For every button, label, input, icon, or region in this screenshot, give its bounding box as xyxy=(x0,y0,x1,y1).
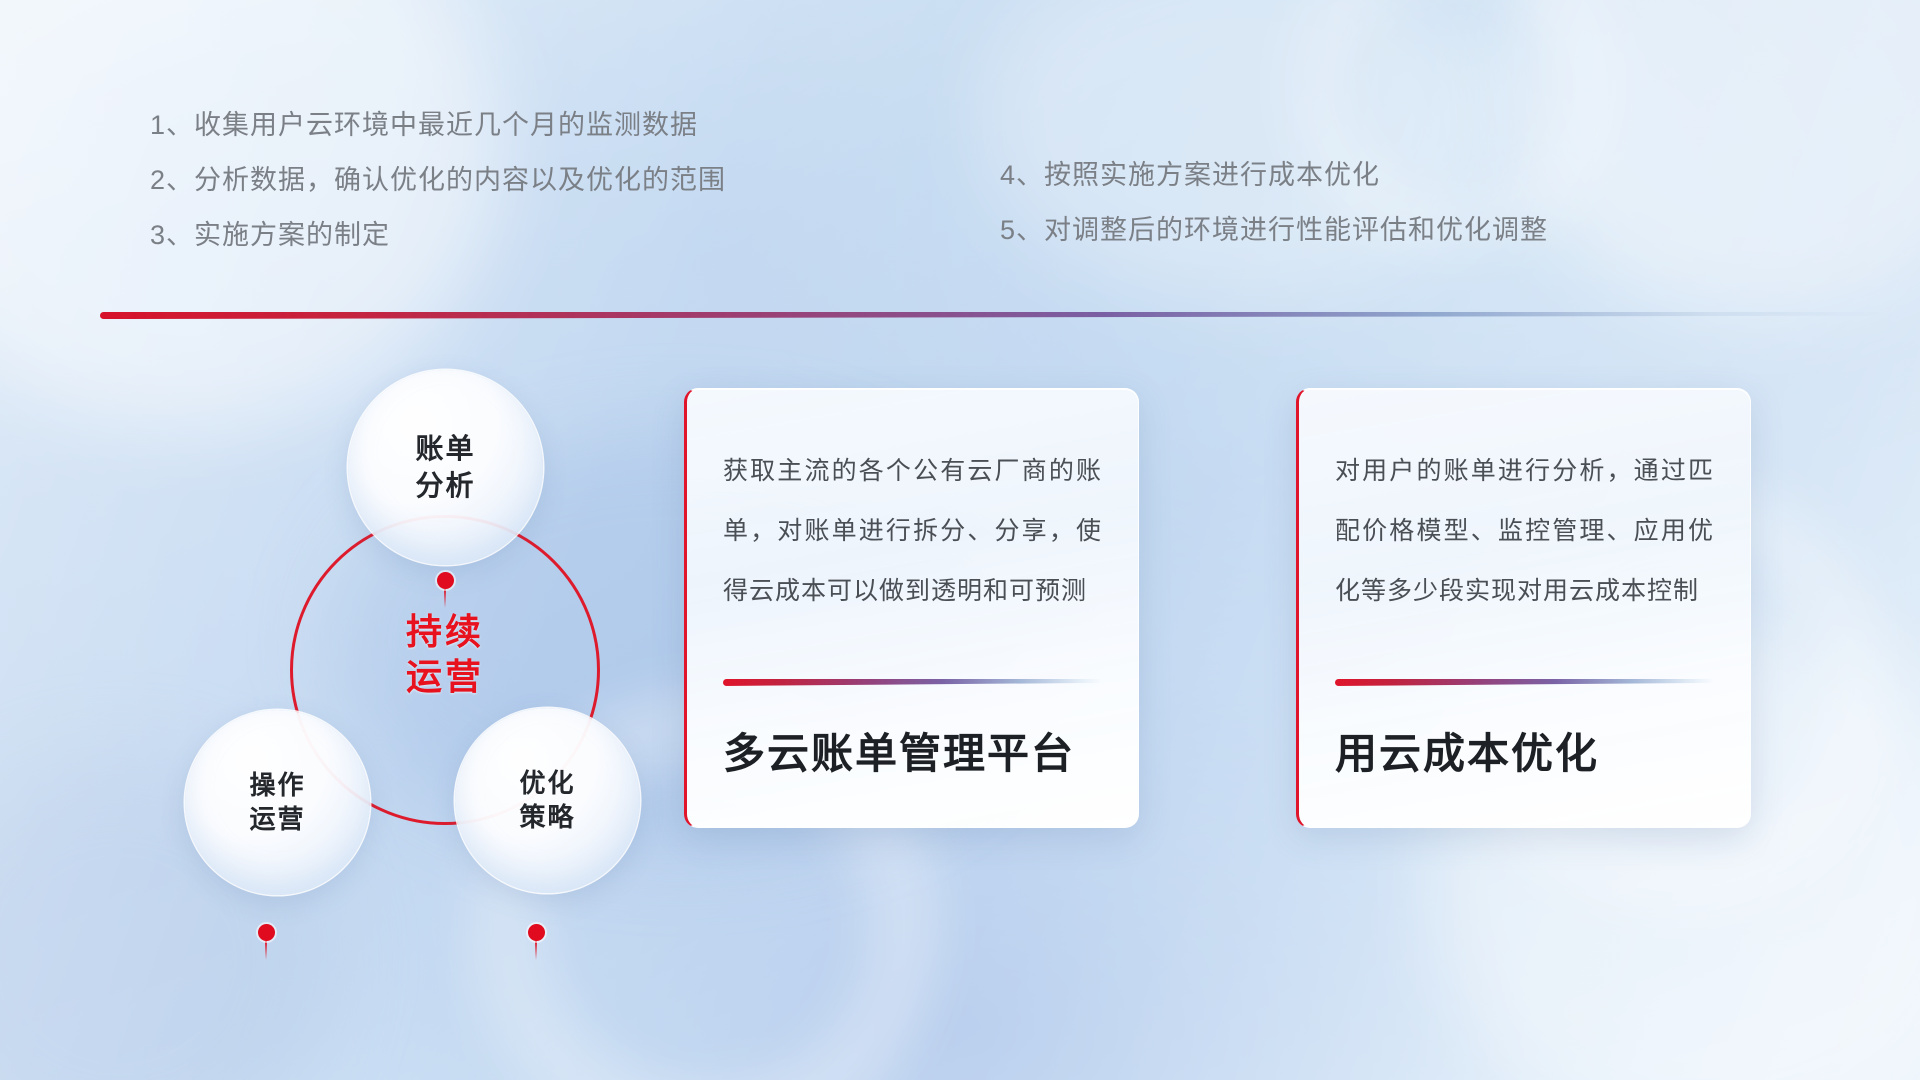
bullet-column-left: 1、收集用户云环境中最近几个月的监测数据 2、分析数据，确认优化的内容以及优化的… xyxy=(150,98,726,263)
venn-node-tail xyxy=(535,940,537,960)
venn-diagram: 持续 运营 账单 分析 操作 运营 优化 策略 xyxy=(100,350,640,950)
venn-node-tail xyxy=(265,940,267,960)
venn-bubble-operations[interactable]: 操作 运营 xyxy=(185,710,370,895)
venn-bubble-label-line2: 分析 xyxy=(415,468,475,504)
venn-bubble-label-line1: 优化 xyxy=(519,767,575,801)
card-body-text: 获取主流的各个公有云厂商的账单，对账单进行拆分、分享，使得云成本可以做到透明和可… xyxy=(723,441,1102,621)
venn-bubble-label-line1: 操作 xyxy=(249,769,305,803)
card-divider xyxy=(1335,679,1714,686)
bullet-item: 2、分析数据，确认优化的内容以及优化的范围 xyxy=(150,153,726,208)
venn-bubble-label-line2: 策略 xyxy=(519,801,575,835)
venn-bubble-optimization-strategy[interactable]: 优化 策略 xyxy=(455,708,640,893)
venn-node-dot xyxy=(258,924,275,941)
venn-node-tail xyxy=(444,588,446,608)
card-title: 用云成本优化 xyxy=(1335,720,1714,781)
bullet-item: 3、实施方案的制定 xyxy=(150,208,726,263)
card-body-text: 对用户的账单进行分析，通过匹配价格模型、监控管理、应用优化等多少段实现对用云成本… xyxy=(1335,441,1714,621)
venn-center-label-line2: 运营 xyxy=(290,655,600,700)
venn-node-dot xyxy=(528,924,545,941)
venn-center-label-line1: 持续 xyxy=(290,610,600,655)
bullet-item: 1、收集用户云环境中最近几个月的监测数据 xyxy=(150,98,726,153)
venn-node-dot xyxy=(437,572,454,589)
venn-bubble-label-line2: 运营 xyxy=(249,803,305,837)
info-card-cloud-cost-optimization[interactable]: 对用户的账单进行分析，通过匹配价格模型、监控管理、应用优化等多少段实现对用云成本… xyxy=(1296,388,1751,828)
venn-bubble-billing-analysis[interactable]: 账单 分析 xyxy=(348,370,543,565)
card-title: 多云账单管理平台 xyxy=(723,720,1102,781)
card-divider xyxy=(723,679,1102,686)
bullet-column-right: 4、按照实施方案进行成本优化 5、对调整后的环境进行性能评估和优化调整 xyxy=(1000,148,1548,258)
venn-bubble-label-line1: 账单 xyxy=(415,431,475,467)
bullet-item: 5、对调整后的环境进行性能评估和优化调整 xyxy=(1000,203,1548,258)
info-card-multicloud-billing[interactable]: 获取主流的各个公有云厂商的账单，对账单进行拆分、分享，使得云成本可以做到透明和可… xyxy=(684,388,1139,828)
bullet-item: 4、按照实施方案进行成本优化 xyxy=(1000,148,1548,203)
venn-center-label: 持续 运营 xyxy=(290,610,600,699)
